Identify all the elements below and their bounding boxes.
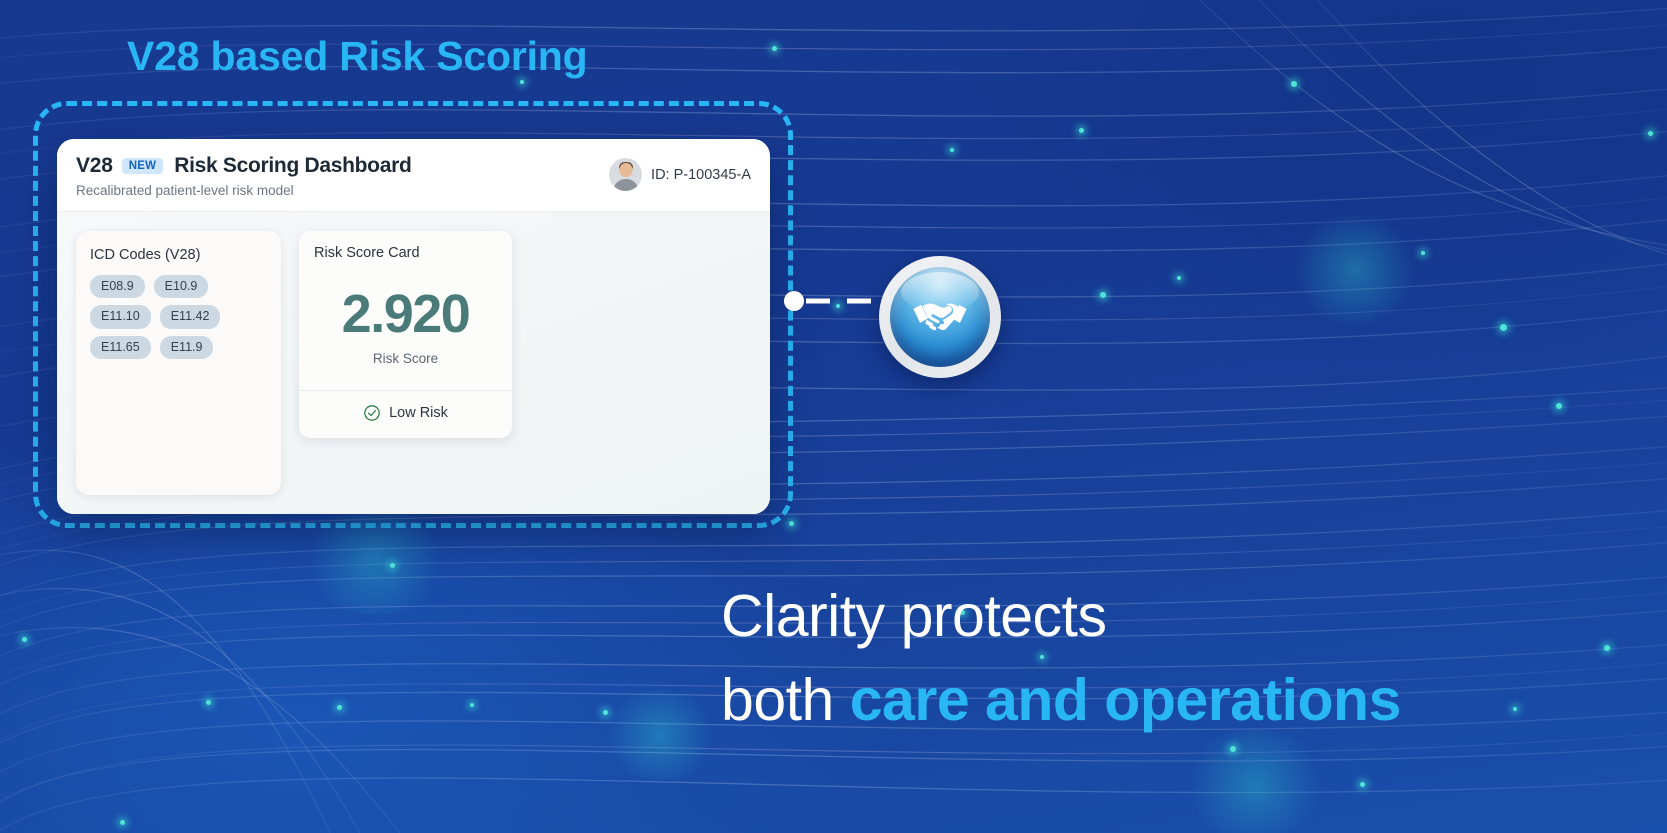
tagline-line-2-accent: care and operations	[850, 667, 1401, 733]
risk-status-row: Low Risk	[299, 390, 512, 438]
tagline-line-1: Clarity protects	[721, 575, 1621, 659]
tagline-line-2: both care and operations	[721, 659, 1621, 743]
icd-codes-panel: ICD Codes (V28) E08.9 E10.9 E11.10 E11.4…	[76, 231, 281, 495]
dashboard-title: Risk Scoring Dashboard	[174, 154, 411, 178]
icd-code-pill[interactable]: E11.9	[160, 336, 214, 359]
risk-score-value: 2.920	[314, 287, 497, 341]
handshake-icon	[909, 286, 971, 348]
tagline: Clarity protects both care and operation…	[721, 575, 1621, 743]
check-circle-icon	[363, 404, 381, 422]
icd-code-pill[interactable]: E08.9	[90, 275, 145, 298]
patient-avatar-icon	[609, 158, 642, 191]
score-card-top: Risk Score Card 2.920 Risk Score	[299, 231, 512, 390]
tagline-line-2-plain: both	[721, 667, 850, 733]
icd-code-pill[interactable]: E10.9	[154, 275, 209, 298]
patient-info: ID: P-100345-A	[609, 154, 751, 191]
risk-score-card: Risk Score Card 2.920 Risk Score Low Ris…	[299, 231, 512, 438]
version-label: V28	[76, 154, 113, 178]
badge-inner-circle	[890, 267, 990, 367]
risk-status-label: Low Risk	[389, 405, 448, 421]
dashboard-subtitle: Recalibrated patient-level risk model	[76, 183, 412, 198]
risk-scoring-dashboard-card: V28 NEW Risk Scoring Dashboard Recalibra…	[57, 139, 770, 514]
slide-canvas: V28 based Risk Scoring V28 NEW Risk Scor…	[0, 0, 1667, 833]
patient-id-label: ID: P-100345-A	[651, 167, 751, 183]
page-title: V28 based Risk Scoring	[127, 33, 587, 80]
card-body: ICD Codes (V28) E08.9 E10.9 E11.10 E11.4…	[57, 212, 770, 514]
header-titles: V28 NEW Risk Scoring Dashboard Recalibra…	[76, 154, 412, 198]
connector-dot-icon	[784, 291, 804, 311]
new-badge: NEW	[122, 158, 163, 175]
risk-score-caption: Risk Score	[314, 351, 497, 366]
icd-panel-title: ICD Codes (V28)	[90, 247, 267, 263]
icd-code-pill[interactable]: E11.42	[160, 305, 221, 328]
avatar-head	[619, 163, 632, 177]
card-header: V28 NEW Risk Scoring Dashboard Recalibra…	[57, 139, 770, 212]
avatar-body	[613, 179, 638, 191]
partnership-badge	[879, 256, 1001, 378]
icd-code-list: E08.9 E10.9 E11.10 E11.42 E11.65 E11.9	[90, 275, 267, 359]
title-row: V28 NEW Risk Scoring Dashboard	[76, 154, 412, 178]
icd-code-pill[interactable]: E11.65	[90, 336, 151, 359]
icd-code-pill[interactable]: E11.10	[90, 305, 151, 328]
risk-score-card-title: Risk Score Card	[314, 245, 497, 261]
